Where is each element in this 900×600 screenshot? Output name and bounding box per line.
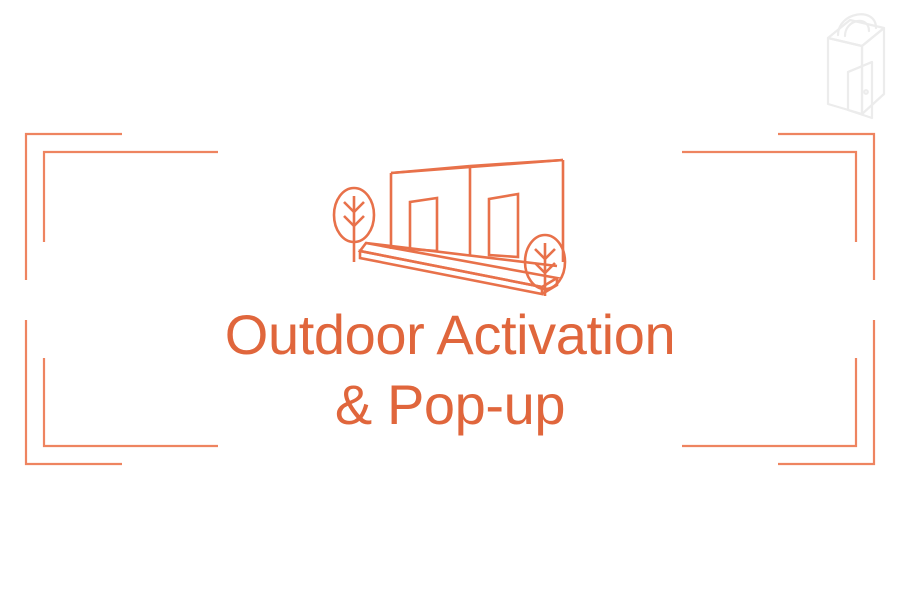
tree-left: [334, 188, 374, 262]
doorway-right: [489, 194, 518, 257]
tree-right: [525, 235, 565, 296]
doorway-left: [410, 198, 437, 251]
title-line-2: & Pop-up: [0, 370, 900, 440]
page-title: Outdoor Activation & Pop-up: [0, 300, 900, 440]
building-right-roofline: [470, 160, 563, 166]
slide-canvas: Outdoor Activation & Pop-up: [0, 0, 900, 600]
building-roof-near-edge: [391, 166, 470, 173]
title-line-1: Outdoor Activation: [0, 300, 900, 370]
